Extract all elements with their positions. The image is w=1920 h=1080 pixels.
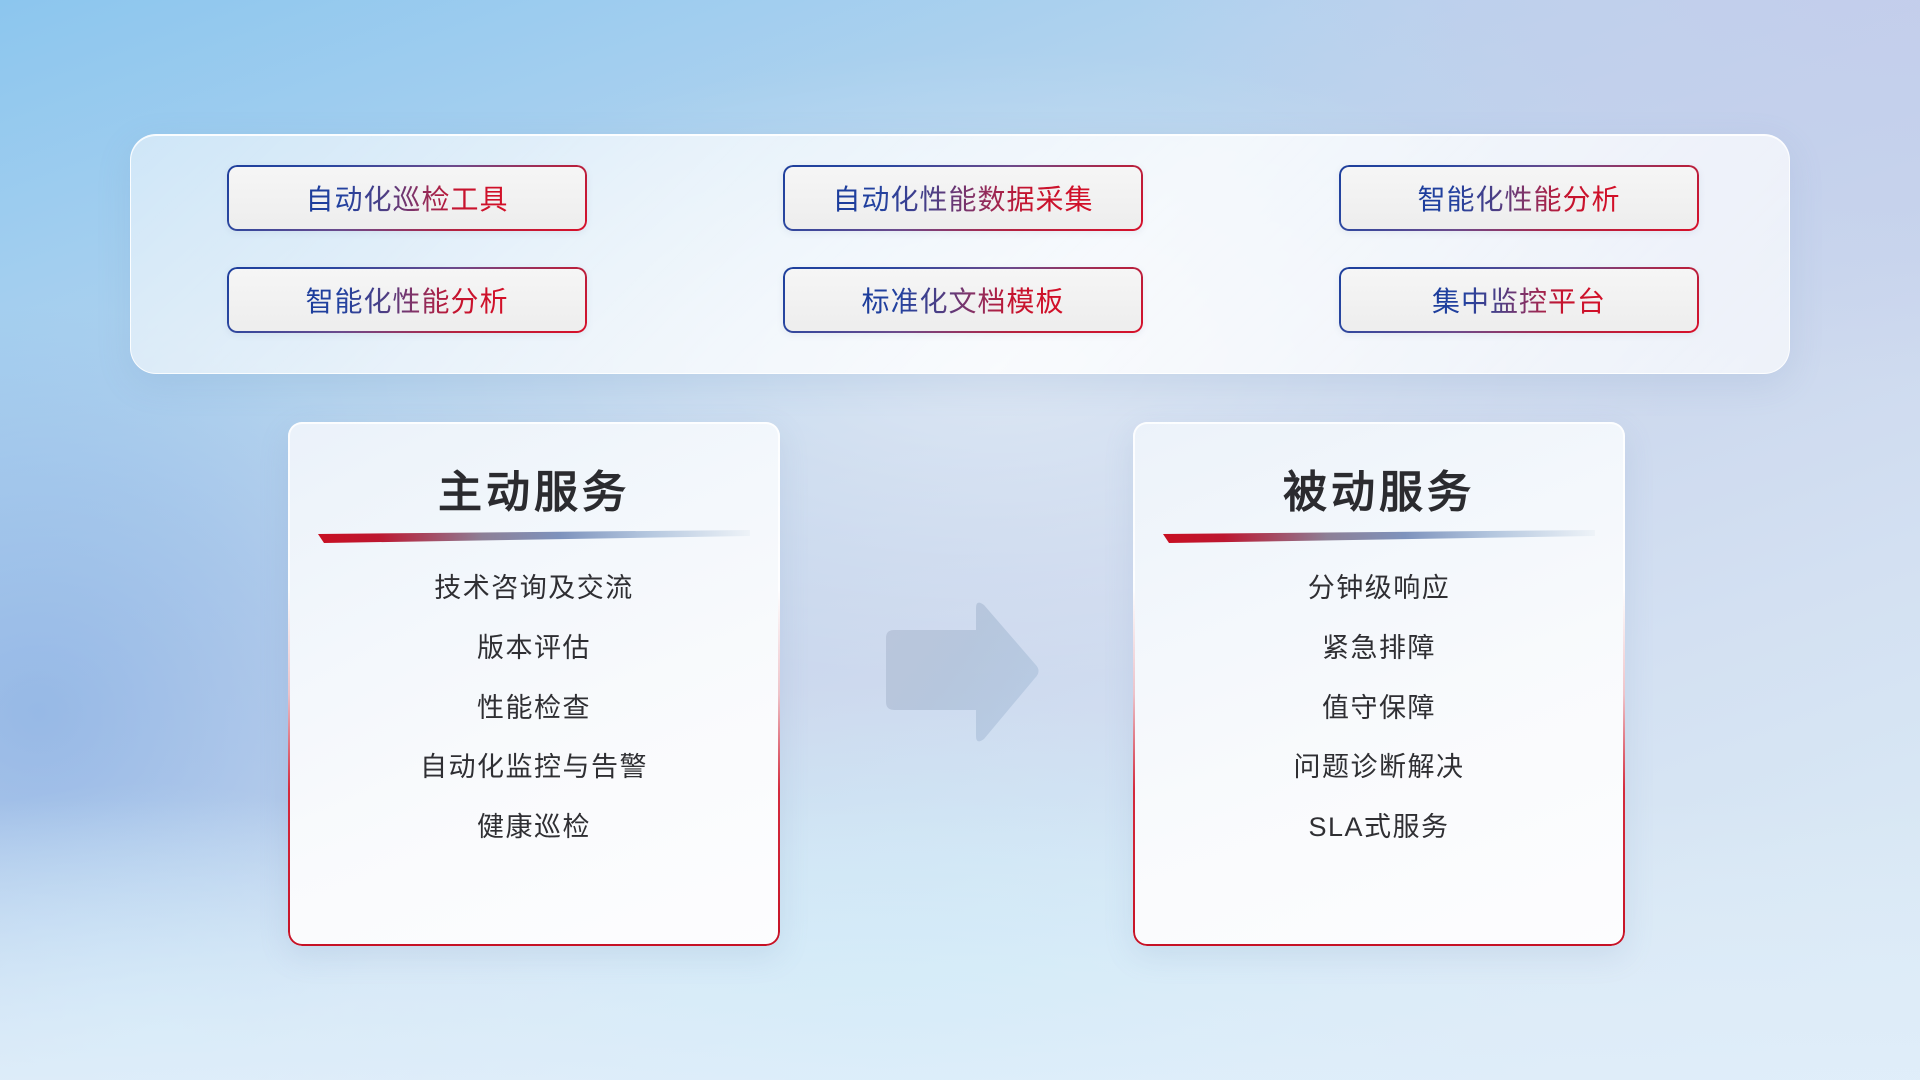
service-item: SLA式服务 xyxy=(1308,809,1449,847)
service-card-title: 主动服务 xyxy=(288,456,780,520)
capability-tag-label: 自动化巡检工具 xyxy=(305,178,508,218)
service-item: 性能检查 xyxy=(477,690,591,728)
service-item: 值守保障 xyxy=(1322,690,1436,728)
service-item-list: 分钟级响应 紧急排障 值守保障 问题诊断解决 SLA式服务 xyxy=(1133,570,1625,847)
service-card-proactive[interactable]: 主动服务 技术咨询及交流 版本评估 性能检查 xyxy=(288,422,780,946)
title-divider xyxy=(318,530,750,543)
title-divider xyxy=(1163,530,1595,543)
capability-tag-grid: 自动化巡检工具 自动化性能数据采集 智能化性能分析 智能化性能分析 标准化文档模… xyxy=(227,165,1699,333)
service-item: 健康巡检 xyxy=(477,809,591,847)
capability-tag-3[interactable]: 智能化性能分析 xyxy=(1339,165,1699,231)
capability-tag-2[interactable]: 自动化性能数据采集 xyxy=(783,165,1143,231)
capability-tag-label: 标准化文档模板 xyxy=(861,280,1064,320)
service-item-list: 技术咨询及交流 版本评估 性能检查 自动化监控与告警 健康巡检 xyxy=(288,570,780,847)
service-item: 自动化监控与告警 xyxy=(420,749,648,787)
capability-panel: 自动化巡检工具 自动化性能数据采集 智能化性能分析 智能化性能分析 标准化文档模… xyxy=(130,134,1790,374)
capability-tag-label: 智能化性能分析 xyxy=(1417,178,1620,218)
service-item: 问题诊断解决 xyxy=(1294,749,1465,787)
capability-tag-4[interactable]: 智能化性能分析 xyxy=(227,267,587,333)
service-item: 分钟级响应 xyxy=(1308,570,1451,608)
service-item: 技术咨询及交流 xyxy=(434,570,634,608)
service-item: 紧急排障 xyxy=(1322,630,1436,668)
capability-tag-label: 智能化性能分析 xyxy=(305,280,508,320)
capability-tag-5[interactable]: 标准化文档模板 xyxy=(783,267,1143,333)
capability-tag-1[interactable]: 自动化巡检工具 xyxy=(227,165,587,231)
capability-tag-6[interactable]: 集中监控平台 xyxy=(1339,267,1699,333)
capability-tag-label: 自动化性能数据采集 xyxy=(832,178,1093,218)
right-arrow-icon xyxy=(880,598,1042,750)
service-card-title: 被动服务 xyxy=(1133,456,1625,520)
service-card-reactive[interactable]: 被动服务 分钟级响应 紧急排障 值守保障 xyxy=(1133,422,1625,946)
service-item: 版本评估 xyxy=(477,630,591,668)
slide-canvas: 自动化巡检工具 自动化性能数据采集 智能化性能分析 智能化性能分析 标准化文档模… xyxy=(0,0,1920,1080)
capability-tag-label: 集中监控平台 xyxy=(1432,280,1606,320)
